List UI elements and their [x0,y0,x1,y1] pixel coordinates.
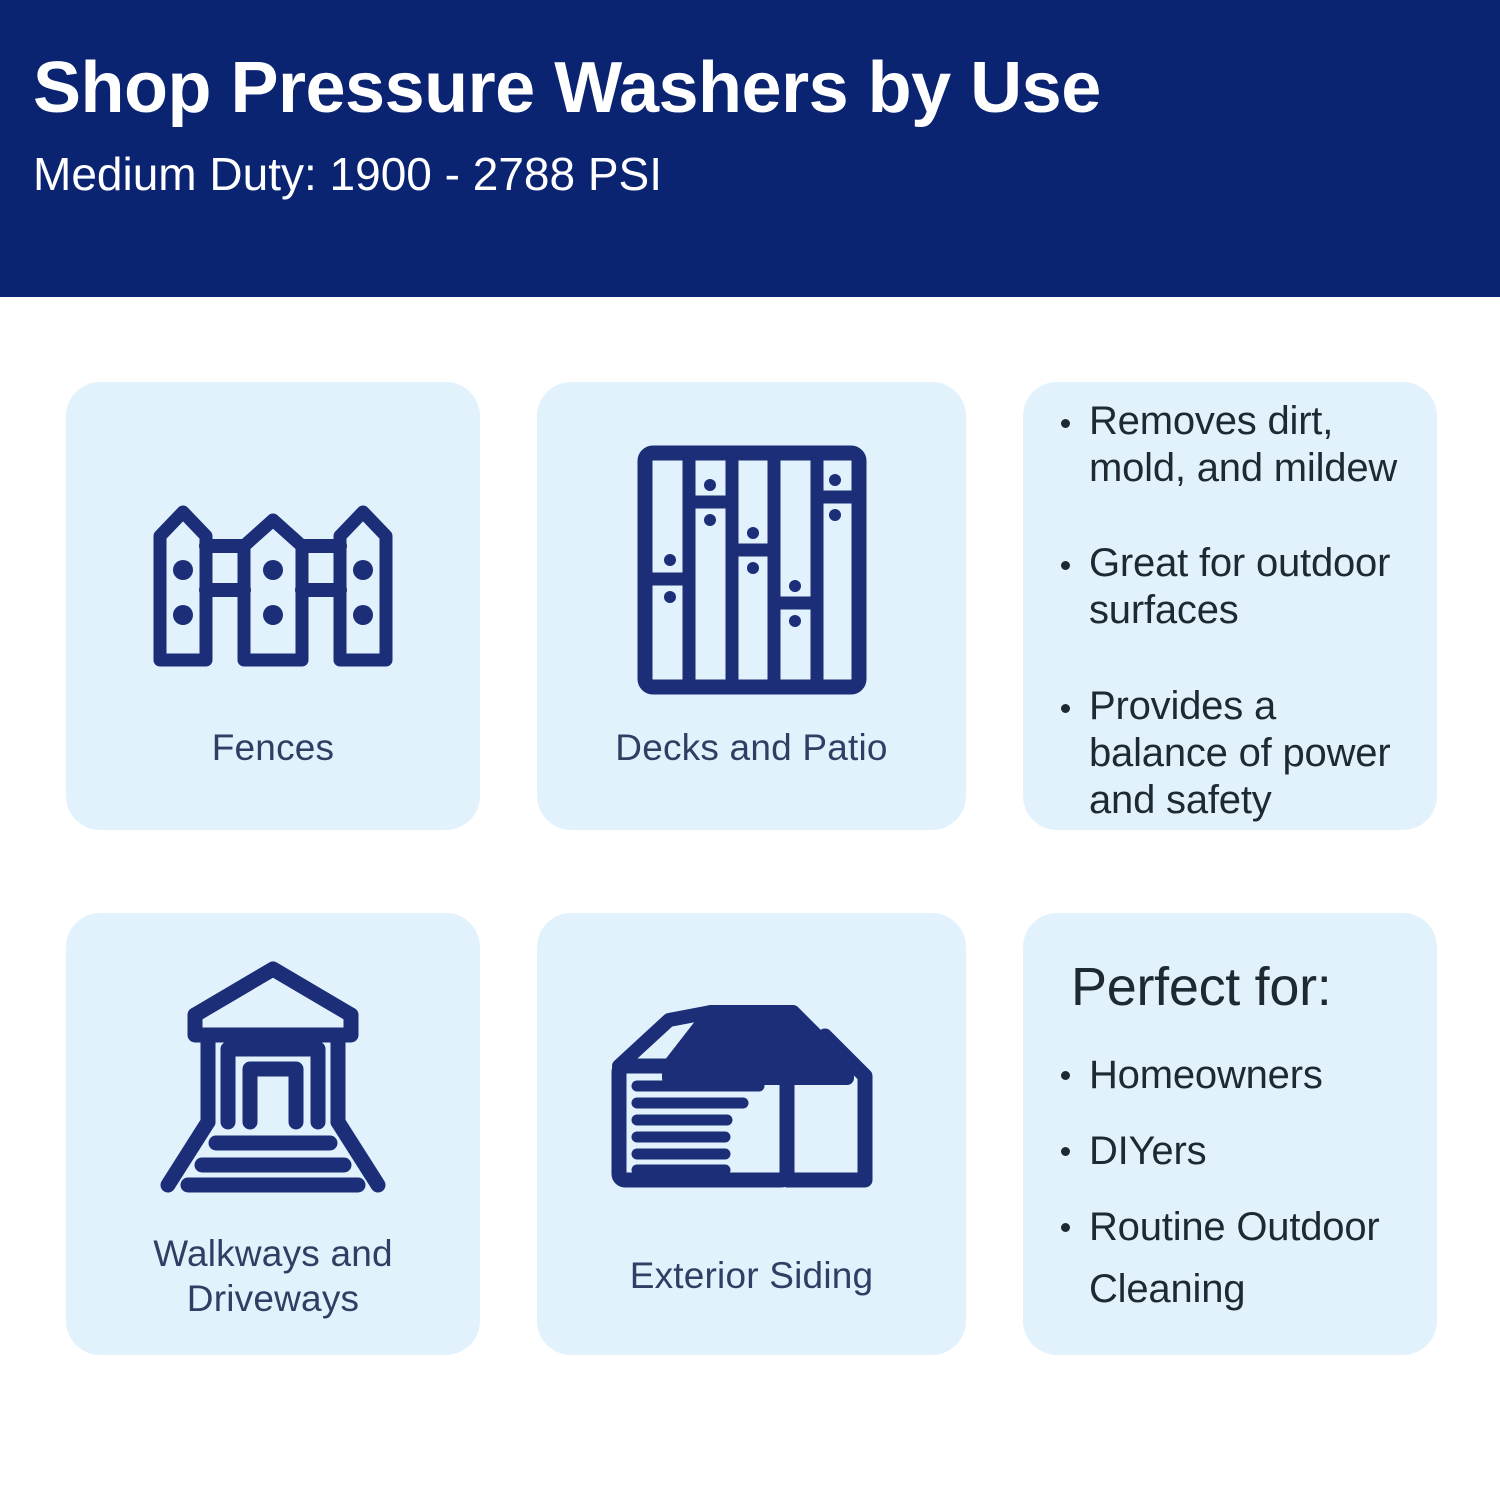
bullet-dot-icon [1061,561,1070,570]
card-perfect-for: Perfect for: Homeowners DIYers Routine O… [1023,913,1437,1355]
card-walkways-and-driveways[interactable]: Walkways and Driveways [66,913,480,1355]
bullet-dot-icon [1061,419,1070,428]
house-siding-icon [607,973,897,1223]
bullet-dot-icon [1061,1147,1070,1156]
list-item: DIYers [1057,1120,1399,1182]
list-item: Routine Outdoor Cleaning [1057,1196,1399,1320]
list-item-text: Provides a balance of power and safety [1089,684,1390,822]
list-item: Homeowners [1057,1044,1399,1106]
bullet-dot-icon [1061,1071,1070,1080]
portico-steps-icon [150,951,396,1201]
card-label: Exterior Siding [630,1253,874,1298]
page-subtitle: Medium Duty: 1900 - 2788 PSI [33,149,1500,200]
list-item: Removes dirt, mold, and mildew [1057,398,1399,492]
audience-list: Homeowners DIYers Routine Outdoor Cleani… [1057,1044,1399,1320]
card-label: Fences [212,725,335,770]
list-item: Provides a balance of power and safety [1057,683,1399,825]
infographic-page: Shop Pressure Washers by Use Medium Duty… [0,0,1500,1500]
list-item-text: Homeowners [1089,1053,1323,1097]
page-title: Shop Pressure Washers by Use [33,52,1500,125]
card-fences[interactable]: Fences [66,382,480,830]
card-benefits: Removes dirt, mold, and mildew Great for… [1023,382,1437,830]
list-item: Great for outdoor surfaces [1057,540,1399,634]
deck-planks-icon [637,445,867,695]
bullet-dot-icon [1061,704,1070,713]
card-label: Decks and Patio [615,725,887,770]
list-item-text: Routine Outdoor Cleaning [1089,1205,1380,1311]
benefits-list: Removes dirt, mold, and mildew Great for… [1057,398,1399,824]
perfect-for-title: Perfect for: [1071,958,1399,1017]
card-label: Walkways and Driveways [80,1231,466,1321]
card-exterior-siding[interactable]: Exterior Siding [537,913,966,1355]
header-banner: Shop Pressure Washers by Use Medium Duty… [0,0,1500,297]
use-case-grid: Fences [66,382,1437,1355]
fence-icon [148,445,398,695]
list-item-text: Removes dirt, mold, and mildew [1089,399,1397,490]
card-decks-and-patio[interactable]: Decks and Patio [537,382,966,830]
bullet-dot-icon [1061,1223,1070,1232]
list-item-text: Great for outdoor surfaces [1089,541,1390,632]
list-item-text: DIYers [1089,1129,1206,1173]
